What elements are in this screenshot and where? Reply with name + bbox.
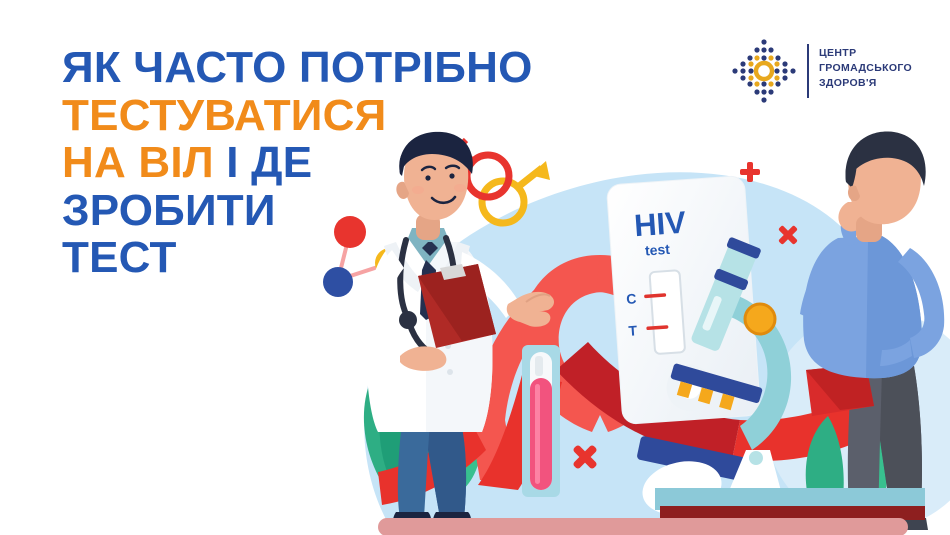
- logo-text-line-2: ГРОМАДСЬКОГО: [819, 61, 912, 76]
- blood-test-tube: [522, 345, 560, 497]
- banner-root: ЯК ЧАСТО ПОТРІБНО ТЕСТУВАТИСЯ НА ВІЛ І Д…: [0, 0, 950, 535]
- logo-text-line-3: ЗДОРОВ'Я: [819, 76, 912, 91]
- title-line-3-blue: [214, 138, 226, 187]
- logo-text: ЦЕНТР ГРОМАДСЬКОГО ЗДОРОВ'Я: [819, 46, 912, 91]
- card-line-c: C: [626, 290, 637, 307]
- logo-divider: [807, 44, 809, 98]
- logo-text-line-1: ЦЕНТР: [819, 46, 912, 61]
- card-subtitle: test: [644, 241, 670, 259]
- molecule-dot-blue: [323, 267, 353, 297]
- title-line-3-orange: НА ВІЛ: [62, 138, 214, 187]
- card-title: HIV: [633, 205, 687, 244]
- public-health-center-logo: ЦЕНТР ГРОМАДСЬКОГО ЗДОРОВ'Я: [731, 38, 921, 104]
- hiv-testing-illustration: HIV test C T: [300, 120, 950, 535]
- ground-bar: [378, 518, 908, 535]
- logo-mark-icon: [731, 38, 797, 104]
- title-line-1: ЯК ЧАСТО ПОТРІБНО: [62, 46, 622, 94]
- molecule-dot-red: [334, 216, 366, 248]
- card-line-t: T: [628, 322, 638, 339]
